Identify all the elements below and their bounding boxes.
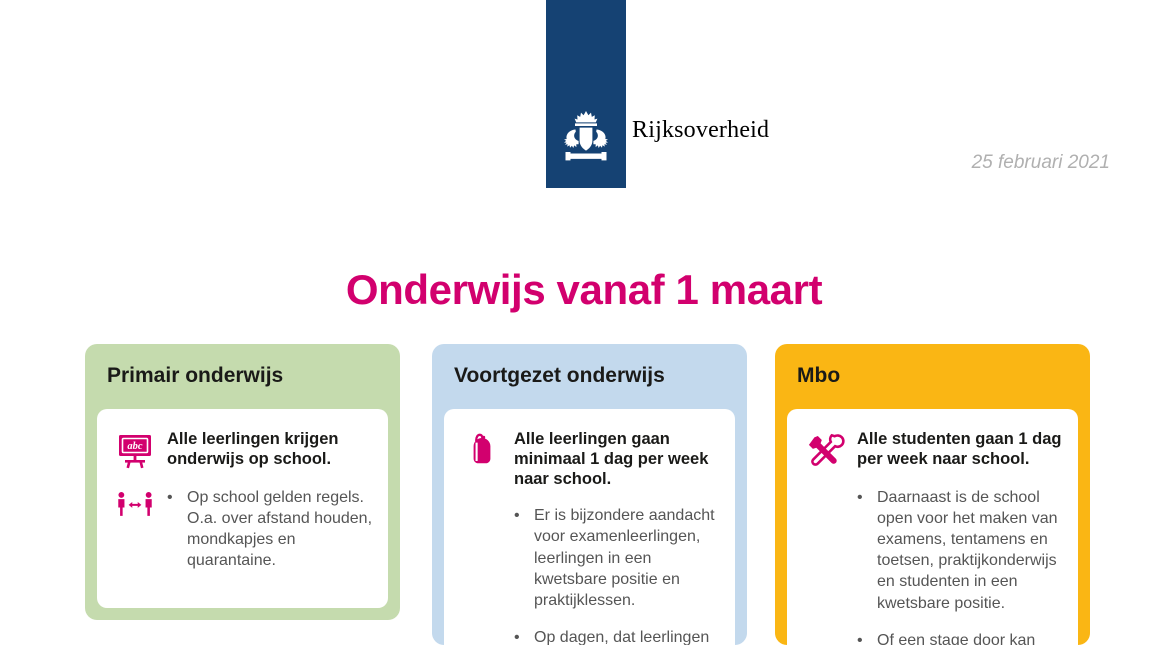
- bullet-text: Of een stage door kan gaan: [877, 630, 1064, 645]
- card-title: Mbo: [797, 364, 840, 388]
- card-voortgezet-onderwijs: Voortgezet onderwijs Alle leerlingen gaa…: [432, 344, 747, 645]
- card-title: Voortgezet onderwijs: [454, 364, 665, 388]
- bullet-marker: •: [514, 627, 522, 645]
- bullet-marker: •: [514, 505, 522, 526]
- bullet-marker: •: [857, 487, 865, 508]
- bullet-text: Er is bijzondere aandacht voor examenlee…: [534, 505, 721, 611]
- bullet-marker: •: [167, 487, 175, 508]
- bullet-row: • Er is bijzondere aandacht voor examenl…: [462, 505, 721, 611]
- headline-text: Alle studenten gaan 1 dag per week naar …: [857, 429, 1064, 469]
- rijksoverheid-logo-bar: [546, 0, 626, 188]
- card-title: Primair onderwijs: [107, 364, 283, 388]
- headline-text: Alle leerlingen gaan minimaal 1 dag per …: [514, 429, 721, 489]
- page-title: Onderwijs vanaf 1 maart: [0, 266, 1168, 314]
- card-content-panel: Alle studenten gaan 1 dag per week naar …: [787, 409, 1078, 645]
- card-primair-onderwijs: Primair onderwijs abc Alle leerlingen kr…: [85, 344, 400, 620]
- card-content-panel: Alle leerlingen gaan minimaal 1 dag per …: [444, 409, 735, 645]
- bullet-row: • Daarnaast is de school open voor het m…: [805, 487, 1064, 614]
- headline-text: Alle leerlingen krijgen onderwijs op sch…: [167, 429, 374, 469]
- bullet-row: • Op dagen, dat leerlingen: [462, 627, 721, 645]
- bullet-text: Op school gelden regels. O.a. over afsta…: [187, 487, 374, 571]
- bullet-text: Daarnaast is de school open voor het mak…: [877, 487, 1064, 614]
- svg-text:abc: abc: [127, 441, 143, 452]
- social-distance-icon: [115, 489, 155, 519]
- headline-row: abc Alle leerlingen krijgen onderwijs op…: [115, 429, 374, 471]
- headline-row: Alle studenten gaan 1 dag per week naar …: [805, 429, 1064, 471]
- bullet-row: • Of een stage door kan gaan: [805, 630, 1064, 645]
- bullet-text: Op dagen, dat leerlingen: [534, 627, 709, 645]
- rijksoverheid-wordmark: Rijksoverheid: [632, 117, 769, 144]
- netherlands-coat-of-arms-icon: [554, 108, 618, 168]
- card-mbo: Mbo Alle studenten gaan 1 dag per week n…: [775, 344, 1090, 645]
- bullet-row: • Op school gelden regels. O.a. over afs…: [115, 487, 374, 571]
- headline-row: Alle leerlingen gaan minimaal 1 dag per …: [462, 429, 721, 489]
- backpack-icon: [462, 431, 502, 471]
- wrench-screwdriver-icon: [805, 431, 845, 471]
- chalkboard-abc-icon: abc: [115, 431, 155, 471]
- card-content-panel: abc Alle leerlingen krijgen onderwijs op…: [97, 409, 388, 608]
- bullet-marker: •: [857, 630, 865, 645]
- date-stamp: 25 februari 2021: [972, 152, 1110, 174]
